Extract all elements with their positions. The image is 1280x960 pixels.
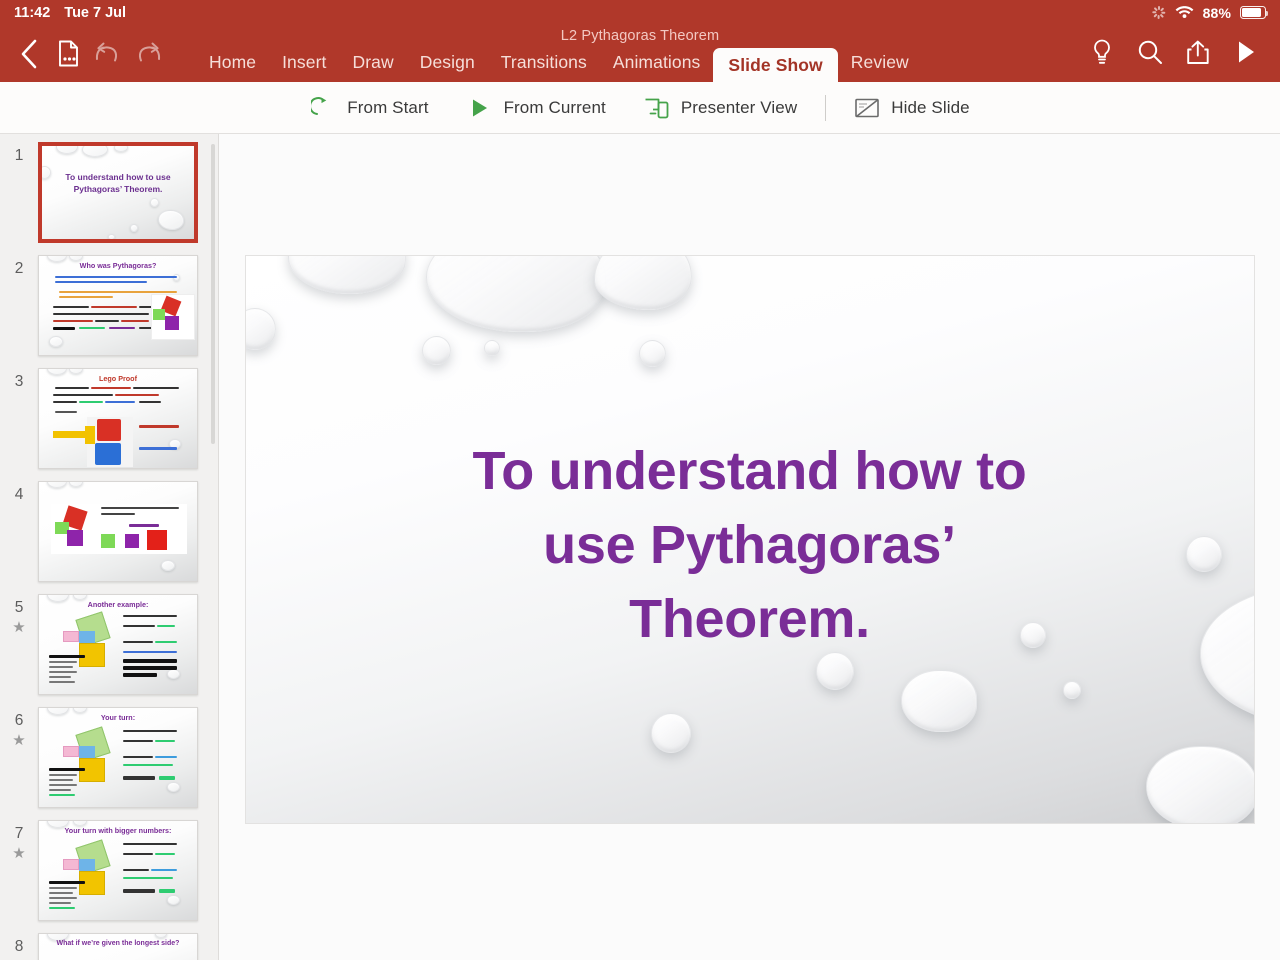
thumbnail-slide-3[interactable]: Lego Proof (38, 368, 198, 469)
presenter-view-button[interactable]: Presenter View (625, 88, 816, 128)
animation-star-icon: ★ (12, 846, 25, 861)
tab-review[interactable]: Review (838, 42, 922, 82)
redo-icon[interactable] (128, 34, 168, 74)
file-options-icon[interactable] (48, 34, 88, 74)
app-ribbon: L2 Pythagoras Theorem (0, 25, 1280, 82)
water-droplet-decoration (484, 340, 500, 356)
water-droplet-decoration (246, 308, 276, 350)
status-bar-time: 11:42 (14, 5, 50, 21)
list-item[interactable]: 1 To understand how to use Pythagoras’ T… (0, 142, 218, 255)
lightbulb-tellme-icon[interactable] (1080, 31, 1124, 73)
slide-title-text[interactable]: To understand how to use Pythagoras’ The… (246, 434, 1254, 656)
activity-spinner-icon (1153, 6, 1166, 19)
thumbnail-meta: 6 ★ (0, 707, 38, 748)
search-icon[interactable] (1128, 31, 1172, 73)
thumbnail-meta: 5 ★ (0, 594, 38, 635)
water-droplet-decoration (594, 256, 692, 310)
from-current-label: From Current (504, 98, 606, 118)
sidebar-scrollbar[interactable] (211, 144, 215, 444)
thumbnail-slide-8[interactable]: What if we’re given the longest side? (38, 933, 198, 960)
water-droplet-decoration (901, 670, 977, 732)
battery-icon (1240, 6, 1266, 19)
tab-animations[interactable]: Animations (600, 42, 714, 82)
thumbnail-meta: 8 (0, 933, 38, 955)
thumbnail-number: 2 (15, 261, 24, 277)
from-start-icon (310, 95, 336, 121)
water-droplet-decoration (1146, 746, 1254, 823)
presenter-view-label: Presenter View (681, 98, 797, 118)
list-item[interactable]: 4 (0, 481, 218, 594)
list-item[interactable]: 8 What if we’re given the longest side? (0, 933, 218, 960)
thumbnail-meta: 2 (0, 255, 38, 277)
current-slide[interactable]: To understand how to use Pythagoras’ The… (246, 256, 1254, 823)
thumbnail-slide-6[interactable]: Your turn: (38, 707, 198, 808)
tab-insert[interactable]: Insert (269, 42, 339, 82)
battery-percent-label: 88% (1203, 5, 1231, 21)
from-current-play-icon (467, 95, 493, 121)
water-droplet-decoration (426, 256, 606, 332)
share-icon[interactable] (1176, 31, 1220, 73)
thumbnail-slide-4[interactable] (38, 481, 198, 582)
thumbnail-title: Another example: (39, 600, 197, 609)
ribbon-tabs: Home Insert Draw Design Transitions Anim… (196, 25, 922, 82)
thumbnail-slide-2[interactable]: Who was Pythagoras? (38, 255, 198, 356)
water-droplet-decoration (422, 336, 451, 365)
list-item[interactable]: 6 ★ Your turn: (0, 707, 218, 820)
animation-star-icon: ★ (12, 620, 25, 635)
thumbnail-title: Your turn with bigger numbers: (39, 826, 197, 835)
water-droplet-decoration (639, 340, 666, 367)
list-item[interactable]: 5 ★ Another example: (0, 594, 218, 707)
workspace: 1 To understand how to use Pythagoras’ T… (0, 134, 1280, 960)
thumbnail-title: Lego Proof (39, 374, 197, 383)
slide-show-command-bar: From Start From Current Presenter View H… (0, 82, 1280, 134)
thumbnail-number: 8 (15, 939, 24, 955)
status-bar-right: 88% (1153, 4, 1266, 22)
status-bar-date: Tue 7 Jul (64, 5, 126, 21)
animation-star-icon: ★ (12, 733, 25, 748)
water-droplet-decoration (816, 652, 854, 690)
thumbnail-title: Your turn: (39, 713, 197, 722)
thumbnail-number: 4 (15, 487, 24, 503)
list-item[interactable]: 7 ★ Your turn with bigger numbers: (0, 820, 218, 933)
back-chevron-icon[interactable] (10, 34, 46, 74)
thumbnail-number: 7 (15, 826, 24, 842)
thumbnail-number: 5 (15, 600, 24, 616)
thumbnail-number: 1 (15, 148, 24, 164)
tab-slide-show[interactable]: Slide Show (713, 48, 837, 82)
list-item[interactable]: 3 Lego Proof (0, 368, 218, 481)
thumbnail-title: What if we’re given the longest side? (39, 940, 197, 947)
thumbnail-slide-1[interactable]: To understand how to use Pythagoras’ The… (38, 142, 198, 243)
command-bar-divider (825, 95, 826, 121)
thumbnail-meta: 7 ★ (0, 820, 38, 861)
hide-slide-label: Hide Slide (891, 98, 970, 118)
presenter-view-icon (644, 95, 670, 121)
undo-icon[interactable] (88, 34, 128, 74)
tab-design[interactable]: Design (407, 42, 488, 82)
tab-transitions[interactable]: Transitions (488, 42, 600, 82)
thumbnail-slide-7[interactable]: Your turn with bigger numbers: (38, 820, 198, 921)
thumbnail-list: 1 To understand how to use Pythagoras’ T… (0, 134, 218, 960)
water-droplet-decoration (651, 713, 691, 753)
slide-title-line-2: use Pythagoras’ (366, 508, 1134, 582)
thumbnail-slide-5[interactable]: Another example: (38, 594, 198, 695)
tab-draw[interactable]: Draw (339, 42, 406, 82)
slide-title-line-3: Theorem. (366, 582, 1134, 656)
slide-title-line-1: To understand how to (366, 434, 1134, 508)
slide-thumbnail-sidebar[interactable]: 1 To understand how to use Pythagoras’ T… (0, 134, 219, 960)
hide-slide-button[interactable]: Hide Slide (835, 88, 989, 128)
list-item[interactable]: 2 Who was Pythagoras? (0, 255, 218, 368)
water-droplet-decoration (288, 256, 406, 294)
thumbnail-meta: 3 (0, 368, 38, 390)
thumbnail-number: 3 (15, 374, 24, 390)
thumbnail-meta: 1 (0, 142, 38, 164)
thumbnail-number: 6 (15, 713, 24, 729)
hide-slide-icon (854, 95, 880, 121)
thumbnail-meta: 4 (0, 481, 38, 503)
present-play-icon[interactable] (1224, 31, 1268, 73)
thumbnail-title: Who was Pythagoras? (39, 261, 197, 270)
status-bar-left: 11:42 Tue 7 Jul (14, 5, 126, 21)
slide-canvas-area[interactable]: To understand how to use Pythagoras’ The… (219, 134, 1280, 960)
water-droplet-decoration (1063, 681, 1081, 699)
thumbnail-title: To understand how to use Pythagoras’ The… (42, 172, 194, 195)
ios-status-bar: 11:42 Tue 7 Jul 88% (0, 0, 1280, 25)
from-current-button[interactable]: From Current (448, 88, 625, 128)
tab-home[interactable]: Home (196, 42, 269, 82)
ribbon-right-actions (1080, 31, 1268, 76)
from-start-label: From Start (347, 98, 428, 118)
wifi-icon (1175, 4, 1194, 22)
from-start-button[interactable]: From Start (291, 88, 447, 128)
